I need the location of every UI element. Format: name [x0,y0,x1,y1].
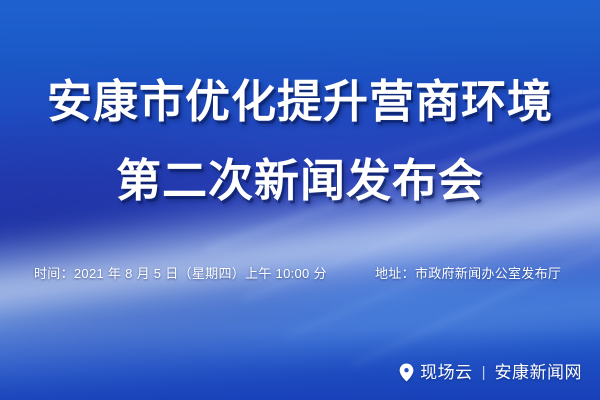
event-address-text: 地址：市政府新闻办公室发布厅 [375,264,561,284]
location-pin-icon [399,363,414,382]
title-line-primary: 安康市优化提升营商环境 [0,74,600,130]
brand-name-label: 现场云 [420,363,473,382]
footer-brand: 现场云 | 安康新闻网 [399,363,582,382]
banner-content: 安康市优化提升营商环境 第二次新闻发布会 时间：2021 年 8 月 5 日（星… [0,0,600,400]
event-time-text: 时间：2021 年 8 月 5 日（星期四）上午 10:00 分 [34,264,327,284]
brand-site-label: 安康新闻网 [495,363,583,382]
event-info-row: 时间：2021 年 8 月 5 日（星期四）上午 10:00 分 地址：市政府新… [0,264,600,284]
press-conference-banner: 安康市优化提升营商环境 第二次新闻发布会 时间：2021 年 8 月 5 日（星… [0,0,600,400]
brand-separator: | [482,363,486,382]
banner-title: 安康市优化提升营商环境 第二次新闻发布会 [0,74,600,209]
title-line-secondary: 第二次新闻发布会 [0,153,600,209]
